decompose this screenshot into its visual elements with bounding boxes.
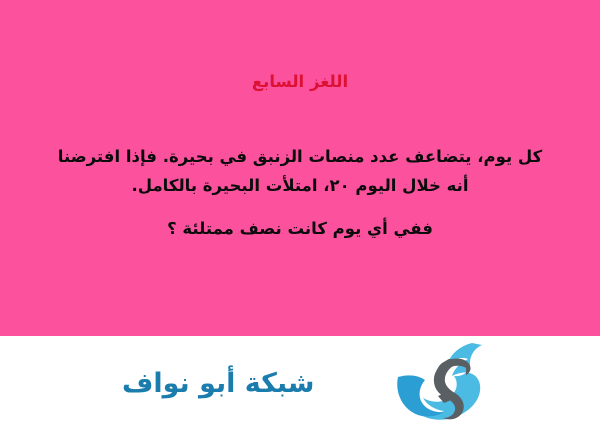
puzzle-question: ففي أي يوم كانت نصف ممتلئة ؟ [50,214,550,243]
abu-nawaf-flame-nun-logo-icon [394,341,490,425]
brand-wordmark: شبكة أبو نواف [122,364,352,404]
puzzle-body: كل يوم، يتضاعف عدد منصات الزنبق في بحيرة… [50,142,550,243]
footer-bar: شبكة أبو نواف [0,336,600,434]
brand-lockup: شبكة أبو نواف [110,336,490,434]
puzzle-statement: كل يوم، يتضاعف عدد منصات الزنبق في بحيرة… [50,142,550,200]
puzzle-panel: اللغز السابع كل يوم، يتضاعف عدد منصات ال… [0,0,600,336]
puzzle-card: اللغز السابع كل يوم، يتضاعف عدد منصات ال… [0,0,600,434]
page-title: اللغز السابع [0,70,600,94]
